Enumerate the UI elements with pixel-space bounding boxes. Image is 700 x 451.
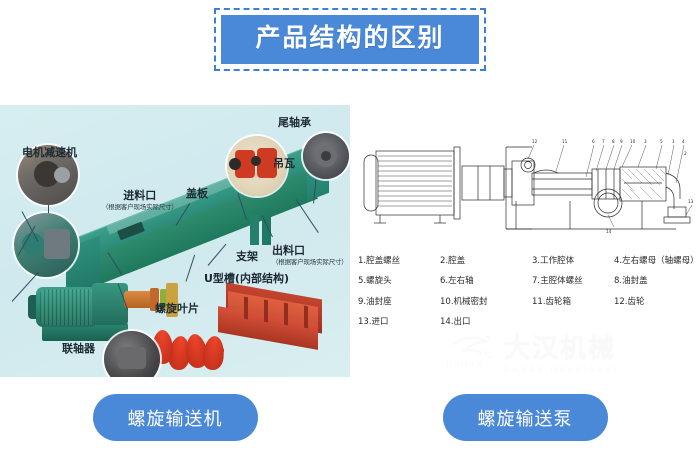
svg-text:6: 6 xyxy=(592,139,595,144)
part-item: 9.油封座 xyxy=(358,298,440,307)
part-item: 4.左右螺母（轴螺母） xyxy=(614,257,696,266)
part-item: 8.油封盖 xyxy=(614,277,696,286)
part-item: 12.齿轮 xyxy=(614,298,696,307)
svg-text:13: 13 xyxy=(688,199,694,204)
u-trough-rib xyxy=(264,300,268,323)
label-motor-reducer: 电机减速机 xyxy=(22,147,77,160)
support-leg xyxy=(250,215,259,245)
leader-line xyxy=(296,199,319,233)
motor-cooling-fins xyxy=(40,289,94,325)
page-root: 产品结构的区别 xyxy=(0,0,700,451)
reducer-gearbox xyxy=(92,283,128,325)
label-tail-bearing: 尾轴承 xyxy=(278,117,311,130)
screw-conveyor-illustration: 电机减速机 进料口 （根据客户现场实际尺寸） 盖板 尾轴承 吊瓦 出料口 xyxy=(0,105,350,377)
svg-text:5: 5 xyxy=(660,139,663,144)
label-coupling: 联轴器 xyxy=(62,343,95,356)
part-item: 11.齿轮箱 xyxy=(532,298,614,307)
u-trough-rib xyxy=(304,306,308,329)
svg-text:4: 4 xyxy=(682,139,685,144)
svg-text:7: 7 xyxy=(602,139,605,144)
part-item: 1.腔盖螺丝 xyxy=(358,257,440,266)
inset-photo-tail-bearing xyxy=(303,133,349,179)
svg-text:12: 12 xyxy=(532,139,538,144)
page-title: 产品结构的区别 xyxy=(255,23,444,52)
screw-pump-button[interactable]: 螺旋输送泵 xyxy=(443,394,608,441)
spiral-blade-part xyxy=(152,330,224,372)
u-trough-rib xyxy=(284,303,288,326)
part-item: 13.进口 xyxy=(358,318,440,327)
comparison-panels: 电机减速机 进料口 （根据客户现场实际尺寸） 盖板 尾轴承 吊瓦 出料口 xyxy=(0,105,700,377)
label-spiral-blade: 螺旋叶片 xyxy=(155,303,199,316)
svg-text:14: 14 xyxy=(606,229,612,234)
svg-text:8: 8 xyxy=(612,139,615,144)
label-hanger-bearing: 吊瓦 xyxy=(273,158,295,171)
part-item: 5.螺旋头 xyxy=(358,277,440,286)
bottom-button-row: 螺旋输送机 螺旋输送泵 xyxy=(0,394,700,446)
header-dashed-frame: 产品结构的区别 xyxy=(214,8,485,71)
dahan-logo-icon: DAHAN xyxy=(446,331,498,371)
label-cover-plate: 盖板 xyxy=(186,188,208,201)
header-blue-box: 产品结构的区别 xyxy=(221,15,478,64)
label-u-trough: U型槽(内部结构) xyxy=(204,273,289,286)
svg-text:10: 10 xyxy=(630,139,636,144)
screw-pump-line-drawing: 12 11 6 7 8 9 10 3 5 1 4 14 13 2 xyxy=(356,133,694,253)
left-product-image: 电机减速机 进料口 （根据客户现场实际尺寸） 盖板 尾轴承 吊瓦 出料口 xyxy=(0,105,350,377)
leader-line xyxy=(208,244,227,266)
part-item: 10.机械密封 xyxy=(440,298,532,307)
brand-watermark: DAHAN 大汉机械 DAHAN MACHINERY xyxy=(446,327,696,375)
part-item: 3.工作腔体 xyxy=(532,257,614,266)
svg-text:9: 9 xyxy=(620,139,623,144)
leader-line xyxy=(48,205,49,213)
part-item: 6.左右轴 xyxy=(440,277,532,286)
part-item: 2.腔盖 xyxy=(440,257,532,266)
label-feed-inlet: 进料口 （根据客户现场实际尺寸） xyxy=(102,190,178,211)
svg-text:3: 3 xyxy=(644,139,647,144)
svg-text:2: 2 xyxy=(684,151,687,156)
watermark-cn: 大汉机械 xyxy=(504,328,620,365)
part-item: 7.主腔体螺丝 xyxy=(532,277,614,286)
u-trough-part xyxy=(218,291,324,353)
svg-text:1: 1 xyxy=(672,139,675,144)
leader-line xyxy=(186,255,196,282)
svg-text:DAHAN: DAHAN xyxy=(446,360,484,370)
parts-legend-list: 1.腔盖螺丝 2.腔盖 3.工作腔体 4.左右螺母（轴螺母） 5.螺旋头 6.左… xyxy=(358,257,696,327)
part-item: 14.出口 xyxy=(440,318,532,327)
u-trough-rib xyxy=(244,297,248,320)
label-support-frame: 支架 xyxy=(236,251,258,264)
watermark-en: DAHAN MACHINERY xyxy=(504,365,620,374)
screw-conveyor-button[interactable]: 螺旋输送机 xyxy=(93,394,258,441)
right-product-diagram: 12 11 6 7 8 9 10 3 5 1 4 14 13 2 xyxy=(350,105,700,377)
label-discharge-outlet: 出料口 （根据客户现场实际尺寸） xyxy=(272,245,348,266)
page-header: 产品结构的区别 xyxy=(0,8,700,71)
svg-text:11: 11 xyxy=(562,139,568,144)
